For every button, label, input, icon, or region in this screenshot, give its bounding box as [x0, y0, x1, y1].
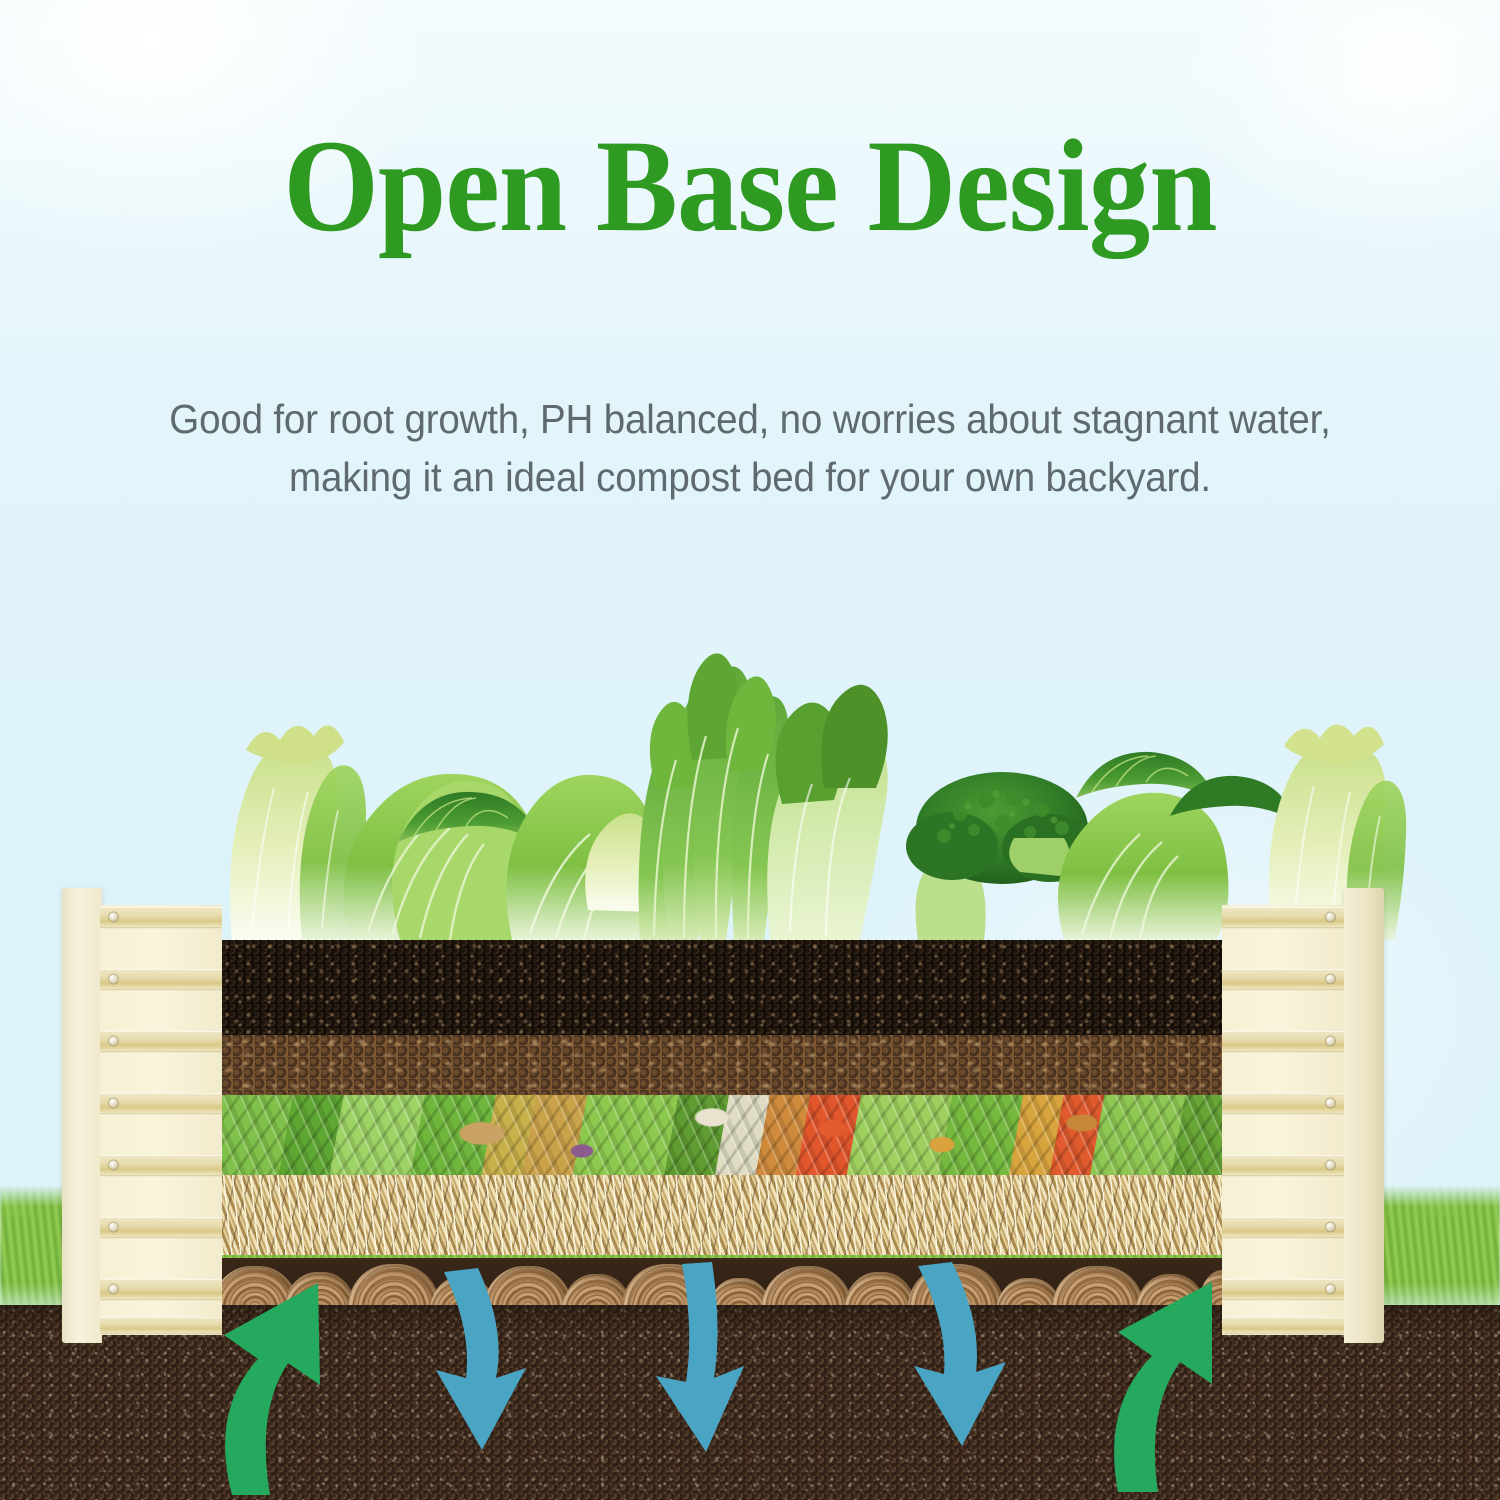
screw-icon	[1326, 913, 1335, 922]
product-feature-poster: Open Base Design Good for root growth, P…	[0, 0, 1500, 1500]
page-title: Open Base Design	[53, 120, 1448, 252]
screw-icon	[109, 1161, 118, 1170]
screw-icon	[1326, 1161, 1335, 1170]
panel-corrugation-right	[1222, 905, 1344, 1335]
subtitle-description: Good for root growth, PH balanced, no wo…	[111, 390, 1389, 506]
bed-panel-left	[100, 905, 222, 1335]
bed-panel-right	[1222, 905, 1344, 1335]
bed-cross-section	[222, 940, 1222, 1258]
plant-bok-choy	[767, 685, 888, 940]
panel-corrugation-left	[100, 905, 222, 1335]
layer-label-topsoil: Topsoil	[0, 0, 1, 1]
screw-icon	[109, 1037, 118, 1046]
bed-corner-post-right	[1344, 888, 1384, 1343]
garden-bed-scene	[0, 600, 1500, 1500]
screw-icon	[1326, 1037, 1335, 1046]
screw-icon	[109, 913, 118, 922]
screw-icon	[1326, 1223, 1335, 1232]
layer-compost-bark	[222, 1035, 1222, 1095]
screw-icon	[109, 1223, 118, 1232]
screw-icon	[1326, 975, 1335, 984]
bed-corner-post-left	[62, 888, 102, 1343]
plant-napa-cabbage	[506, 775, 659, 940]
layer-topsoil	[222, 940, 1222, 1035]
screw-icon	[109, 1285, 118, 1294]
plant-swiss-chard	[639, 653, 789, 940]
layer-straw-hay	[222, 1175, 1222, 1255]
screw-icon	[109, 975, 118, 984]
screw-icon	[1326, 1285, 1335, 1294]
screw-icon	[1326, 1099, 1335, 1108]
screw-icon	[109, 1099, 118, 1108]
layer-kitchen-scraps	[222, 1095, 1222, 1175]
